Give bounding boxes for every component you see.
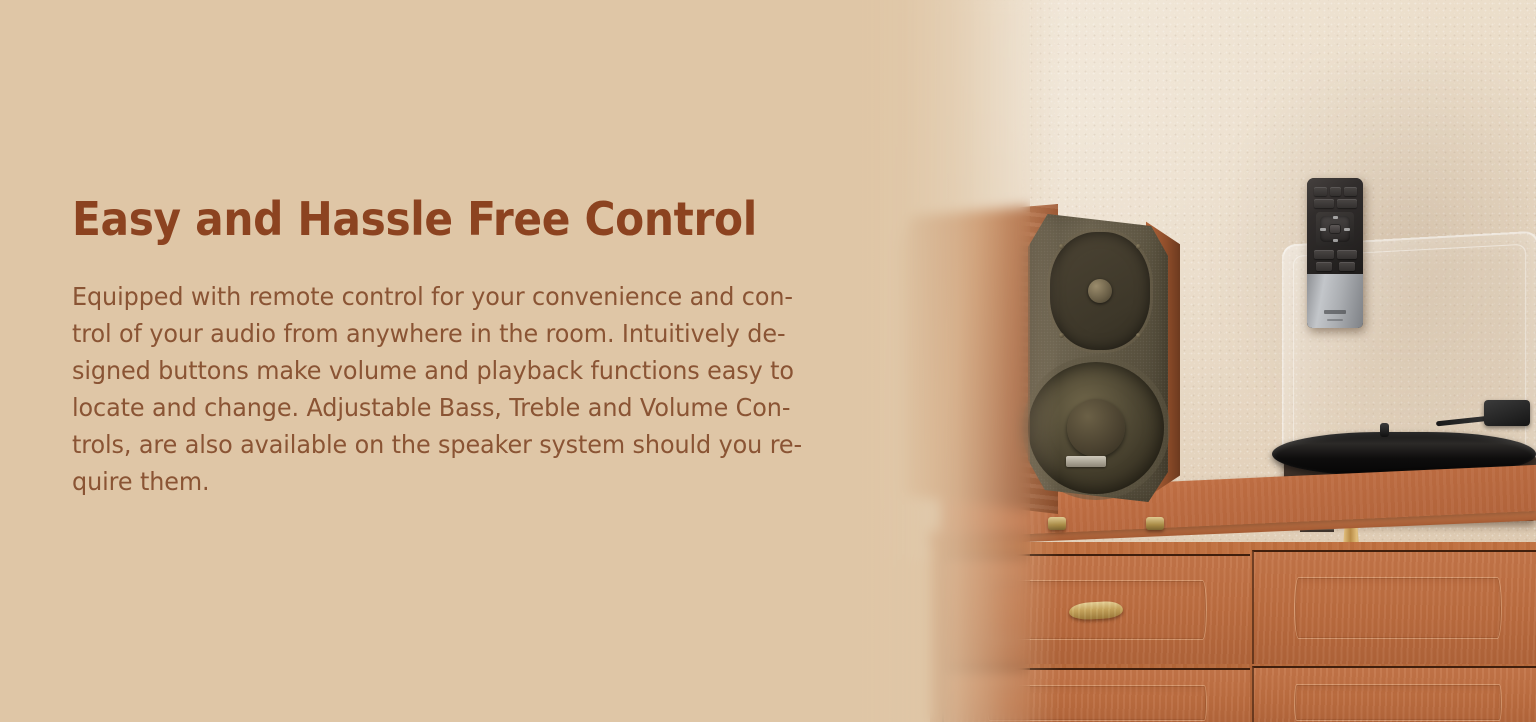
paragraph-line: quire them.	[72, 463, 881, 500]
paragraph-line: signed buttons make volume and playback …	[72, 352, 881, 389]
tweeter-screw	[1136, 333, 1141, 338]
speaker-woofer	[1028, 362, 1164, 494]
page-title: Easy and Hassle Free Control	[72, 196, 836, 242]
drawer-panel	[987, 685, 1207, 721]
remote-dpad-left-icon	[1320, 228, 1326, 231]
speaker-brand-badge	[1066, 456, 1106, 467]
tweeter-dome	[1088, 279, 1112, 303]
tweeter-screw	[1136, 244, 1141, 249]
drawer-top-left	[940, 554, 1250, 664]
remote-line1-button[interactable]	[1314, 250, 1334, 259]
remote-mute-button[interactable]	[1330, 187, 1341, 196]
paragraph-line: trol of your audio from anywhere in the …	[72, 315, 881, 352]
woofer-dust-cap	[1067, 399, 1125, 457]
dresser	[880, 492, 1536, 722]
remote-line2-button[interactable]	[1337, 250, 1357, 259]
remote-power-button[interactable]	[1314, 187, 1327, 196]
remote-right-function-button[interactable]	[1337, 199, 1357, 208]
speaker-tweeter	[1050, 232, 1150, 350]
remote-brand-logo	[1324, 310, 1346, 314]
remote-control[interactable]	[1307, 178, 1363, 328]
drawer-bottom-left	[942, 668, 1250, 722]
paragraph-line: locate and change. Adjustable Bass, Treb…	[72, 389, 881, 426]
remote-volume-down-button[interactable]	[1316, 262, 1332, 271]
drawer-panel	[985, 580, 1207, 640]
product-photo	[880, 0, 1536, 722]
copy-block: Easy and Hassle Free Control Equipped wi…	[72, 196, 902, 500]
drawer-bottom-right	[1252, 666, 1536, 722]
remote-ok-button[interactable]	[1330, 225, 1340, 233]
remote-left-function-button[interactable]	[1314, 199, 1334, 208]
tweeter-screw	[1059, 244, 1064, 249]
remote-model-label	[1327, 319, 1343, 321]
drawer-panel	[1294, 684, 1501, 721]
drawer-top-right	[1252, 550, 1536, 664]
promo-banner: Easy and Hassle Free Control Equipped wi…	[0, 0, 1536, 722]
remote-dpad-down-icon	[1333, 239, 1338, 242]
drawer-pull	[1069, 601, 1124, 621]
drawer-panel	[1294, 577, 1501, 640]
remote-bluetooth-button[interactable]	[1339, 262, 1355, 271]
speaker-foot	[1146, 517, 1164, 530]
remote-dpad-right-icon	[1344, 228, 1350, 231]
remote-dpad-up-icon	[1333, 216, 1338, 219]
paragraph-line: Equipped with remote control for your co…	[72, 278, 881, 315]
remote-directional-pad[interactable]	[1316, 212, 1354, 246]
tweeter-screw	[1059, 333, 1064, 338]
speaker-foot	[1048, 517, 1066, 530]
turntable-spindle	[1380, 423, 1389, 437]
paragraph-line: trols, are also available on the speaker…	[72, 426, 881, 463]
body-paragraph: Equipped with remote control for your co…	[72, 278, 902, 500]
bookshelf-speaker	[898, 190, 1188, 520]
turntable-tonearm-base	[1484, 400, 1530, 426]
remote-source-button[interactable]	[1344, 187, 1357, 196]
